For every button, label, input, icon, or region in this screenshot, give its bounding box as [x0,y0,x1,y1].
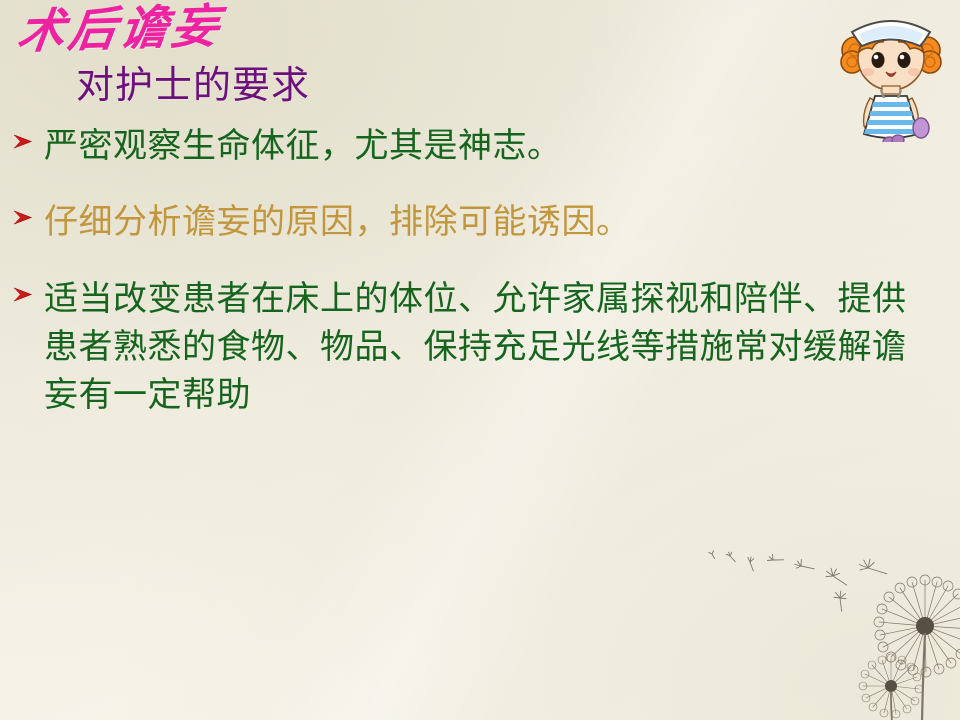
list-item-text: 严密观察生命体征，尤其是神志。 [44,122,932,170]
list-item: 严密观察生命体征，尤其是神志。 [12,122,932,170]
arrow-bullet-icon [12,198,44,228]
nurse-cartoon-icon [828,2,954,142]
list-item-text: 仔细分析谵妄的原因，排除可能诱因。 [44,198,932,246]
list-item: 适当改变患者在床上的体位、允许家属探视和陪伴、提供患者熟悉的食物、物品、保持充足… [12,275,932,420]
arrow-bullet-icon [12,275,44,305]
arrow-bullet-icon [12,122,44,152]
page-subtitle: 对护士的要求 [76,66,310,104]
page-title: 术后谵妄 [15,3,226,56]
slide-canvas: 术后谵妄 对护士的要求 严密观察生命体征，尤其是神志。 仔细分析谵妄的原因，排除… [0,0,960,720]
bullet-list: 严密观察生命体征，尤其是神志。 仔细分析谵妄的原因，排除可能诱因。 适当改变患者… [12,122,932,447]
list-item-text: 适当改变患者在床上的体位、允许家属探视和陪伴、提供患者熟悉的食物、物品、保持充足… [44,275,932,420]
dandelion-silhouette-icon [700,538,960,720]
list-item: 仔细分析谵妄的原因，排除可能诱因。 [12,198,932,246]
